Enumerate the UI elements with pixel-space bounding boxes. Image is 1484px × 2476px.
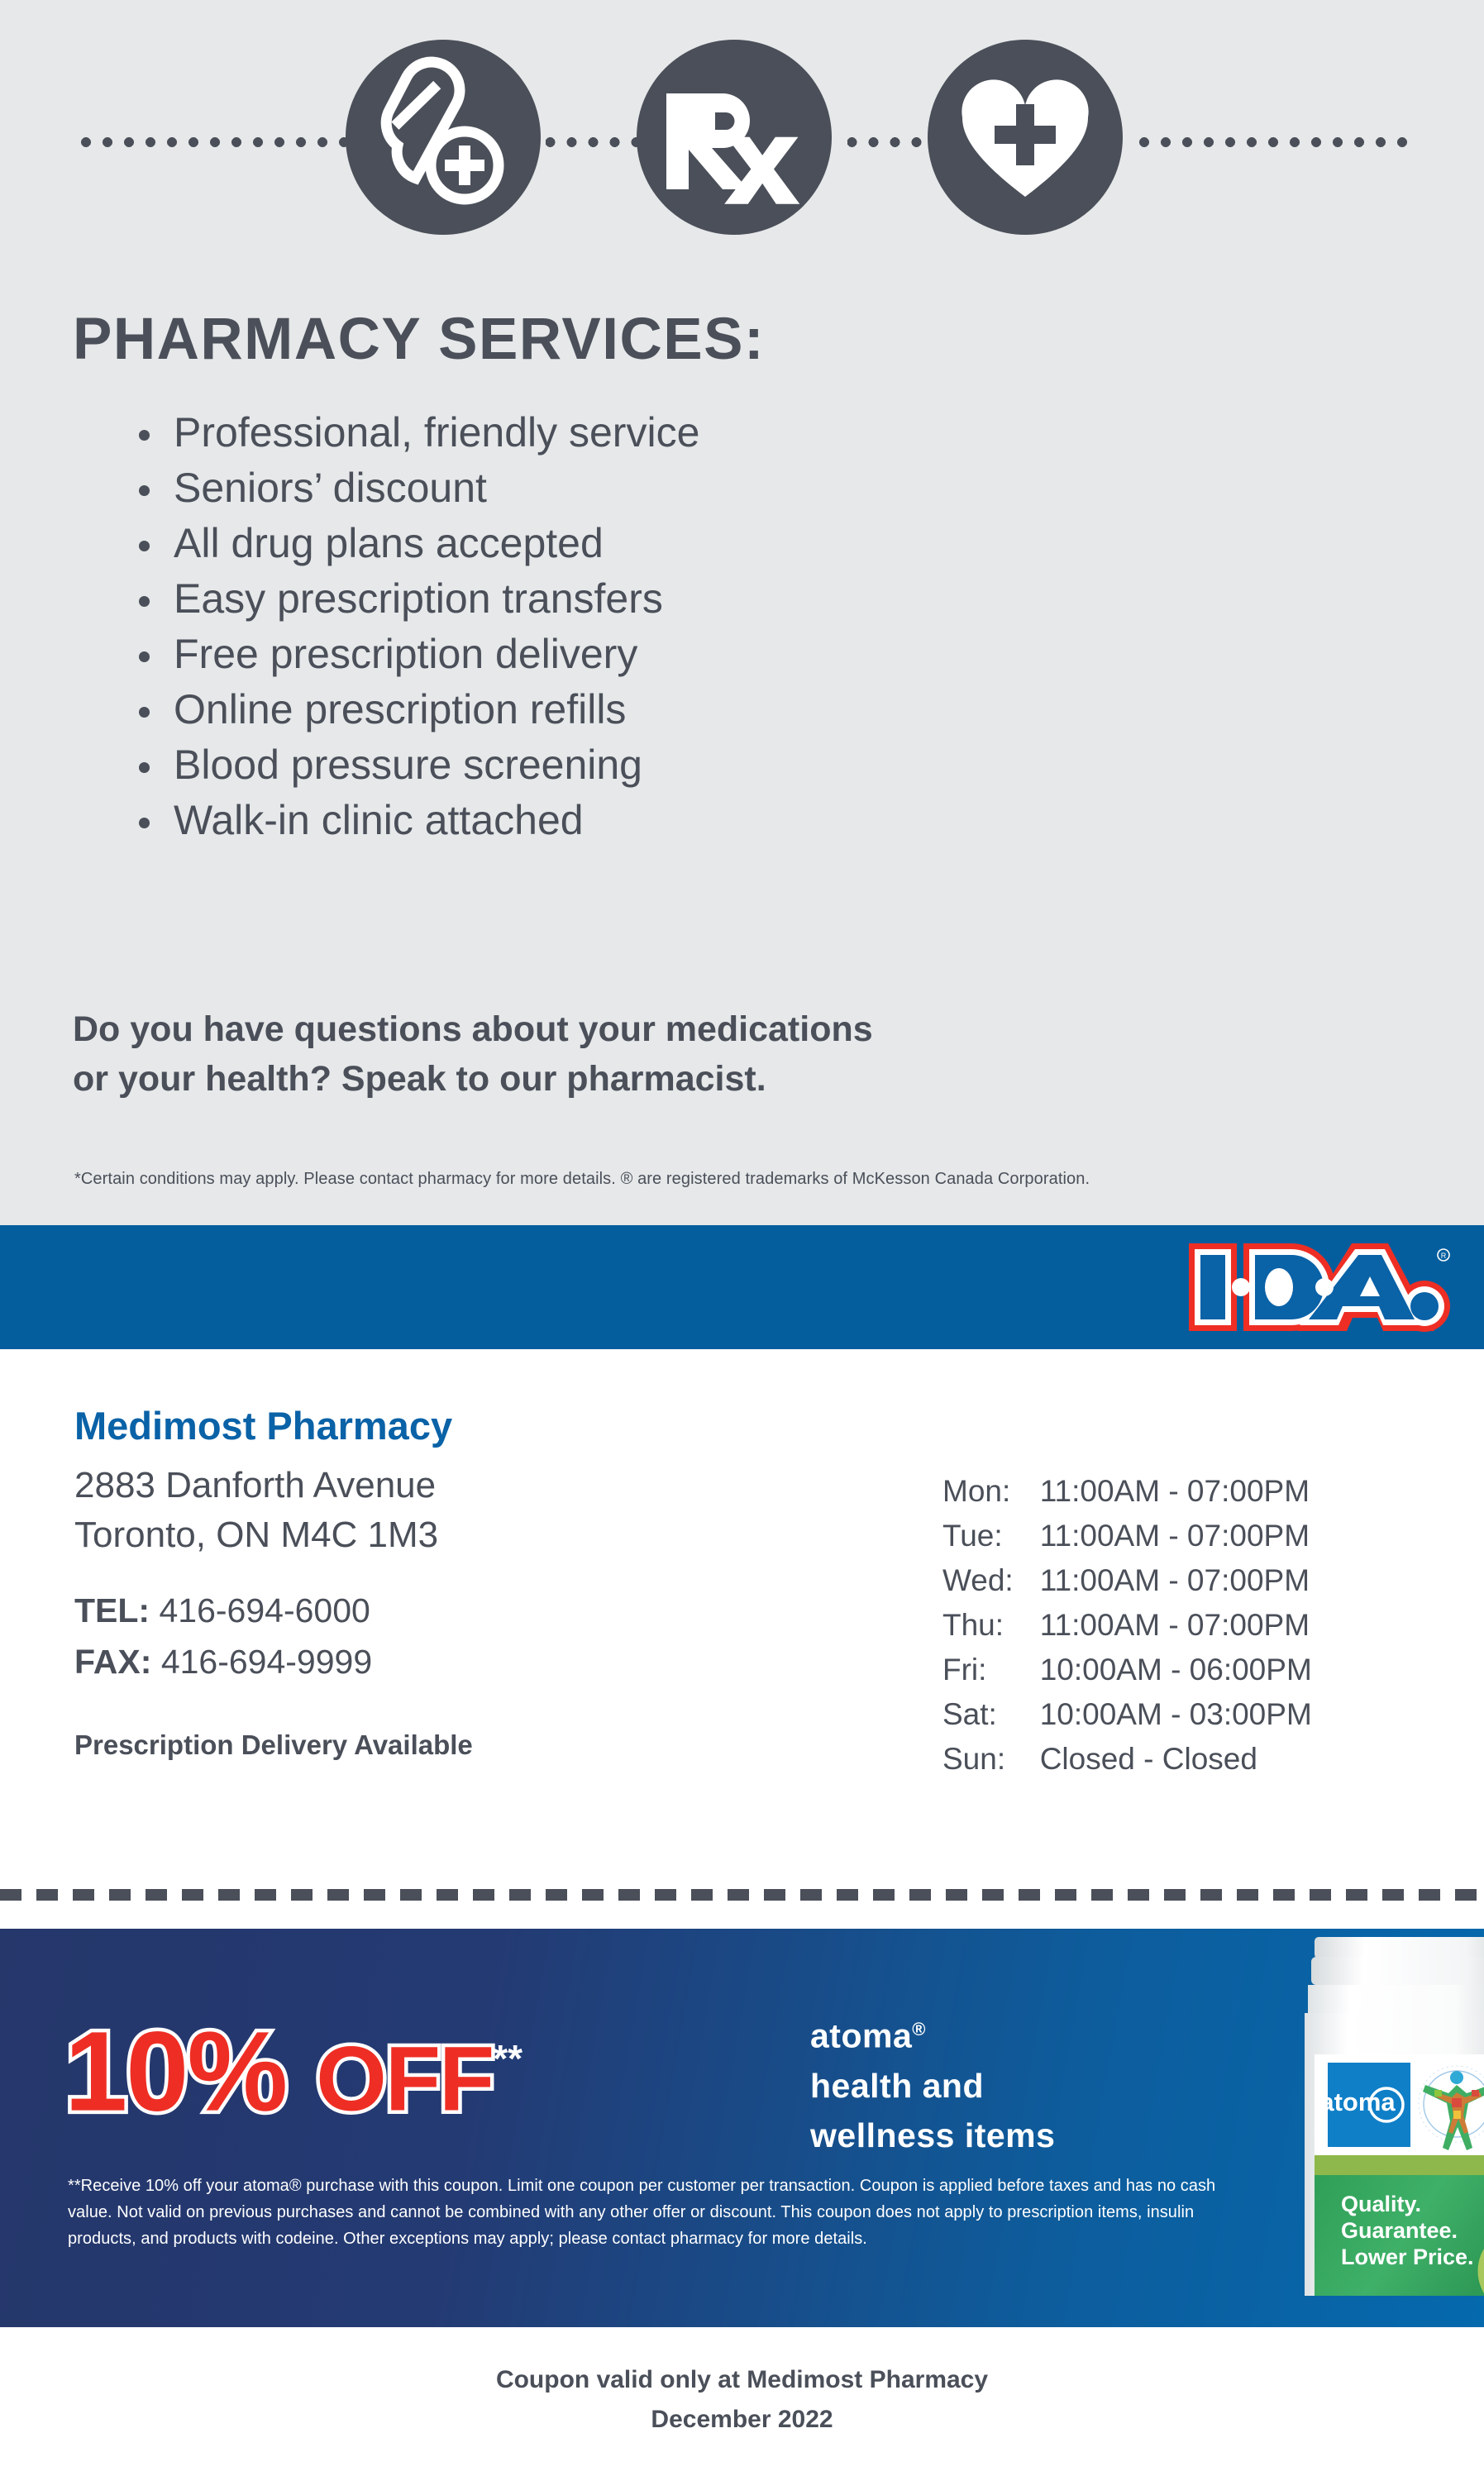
- pills-plus-icon: [346, 40, 541, 235]
- offer-footnote-marker: **: [493, 2037, 523, 2080]
- hours-day: Thu:: [942, 1603, 1040, 1648]
- offer-percent: 10%: [64, 2009, 286, 2135]
- coupon-disclaimer: **Receive 10% off your atoma® purchase w…: [68, 2173, 1225, 2252]
- telephone-label: TEL:: [74, 1591, 150, 1629]
- pharmacy-address: 2883 Danforth Avenue Toronto, ON M4C 1M3: [74, 1461, 438, 1560]
- pharmacy-info-section: Medimost Pharmacy 2883 Danforth Avenue T…: [0, 1349, 1484, 1885]
- telephone-value[interactable]: 416-694-6000: [160, 1591, 370, 1629]
- coupon-date-line: December 2022: [0, 2400, 1484, 2440]
- svg-text:R: R: [1441, 1252, 1447, 1260]
- table-row: Thu: 11:00AM - 07:00PM: [942, 1603, 1312, 1648]
- brand-band: R: [0, 1225, 1484, 1349]
- offer-text: 10% OFF**: [64, 1997, 759, 2142]
- dotted-divider-left: [79, 137, 351, 147]
- hours-day: Wed:: [942, 1558, 1040, 1603]
- bottle-label-line1: Quality.: [1341, 2192, 1421, 2216]
- atoma-wordmark: atoma: [810, 2017, 912, 2055]
- coupon-banner: 10% OFF** atoma® health and wellness ite…: [0, 1929, 1484, 2327]
- hours-time: 11:00AM - 07:00PM: [1040, 1469, 1312, 1514]
- offer-headline: 10% OFF**: [64, 1997, 759, 2142]
- pharmacist-callout-line1: Do you have questions about your medicat…: [73, 1004, 873, 1054]
- table-row: Wed: 11:00AM - 07:00PM: [942, 1558, 1312, 1603]
- atoma-brand-text: atoma® health and wellness items: [810, 2005, 1055, 2160]
- atoma-bottle-wordmark: atoma: [1319, 2087, 1396, 2116]
- telephone-row: TEL: 416-694-6000: [74, 1585, 372, 1636]
- registered-mark: ®: [912, 2019, 926, 2039]
- table-row: Tue: 11:00AM - 07:00PM: [942, 1514, 1312, 1558]
- hours-time: 11:00AM - 07:00PM: [1040, 1558, 1312, 1603]
- pharmacy-contact: TEL: 416-694-6000 FAX: 416-694-9999: [74, 1585, 372, 1687]
- hours-day: Tue:: [942, 1514, 1040, 1558]
- hours-day: Sun:: [942, 1737, 1040, 1782]
- pharmacy-flyer-page: PHARMACY SERVICES: Professional, friendl…: [0, 0, 1484, 2476]
- table-row: Fri: 10:00AM - 06:00PM: [942, 1648, 1312, 1692]
- coupon-cut-line: [0, 1889, 1484, 1901]
- pharmacist-callout-line2: or your health? Speak to our pharmacist.: [73, 1054, 873, 1104]
- list-item: Seniors’ discount: [124, 460, 699, 516]
- services-section: PHARMACY SERVICES: Professional, friendl…: [0, 0, 1484, 1225]
- legal-disclaimer-top: *Certain conditions may apply. Please co…: [74, 1170, 1090, 1189]
- pharmacist-callout: Do you have questions about your medicat…: [73, 1004, 873, 1104]
- atoma-brand-line3: wellness items: [810, 2111, 1055, 2160]
- bottle-label-line2: Guarantee.: [1341, 2218, 1458, 2243]
- hours-day: Sat:: [942, 1692, 1040, 1737]
- icon-strip: [0, 40, 1484, 238]
- services-list: Professional, friendly service Seniors’ …: [124, 405, 699, 848]
- pharmacy-name: Medimost Pharmacy: [74, 1403, 452, 1448]
- list-item: Walk-in clinic attached: [124, 793, 699, 848]
- table-row: Mon: 11:00AM - 07:00PM: [942, 1469, 1312, 1514]
- atoma-brand-line1: atoma®: [810, 2005, 1055, 2061]
- address-line-1: 2883 Danforth Avenue: [74, 1461, 438, 1510]
- hours-time: 10:00AM - 06:00PM: [1040, 1648, 1312, 1692]
- dotted-divider-mid-left: [546, 137, 641, 147]
- bottle-label-line3: Lower Price.: [1341, 2245, 1474, 2269]
- atoma-brand-line2: health and: [810, 2061, 1055, 2111]
- ida-logo: R: [1182, 1237, 1455, 1338]
- fax-label: FAX:: [74, 1643, 151, 1681]
- delivery-note: Prescription Delivery Available: [74, 1729, 473, 1761]
- hours-day: Fri:: [942, 1648, 1040, 1692]
- list-item: All drug plans accepted: [124, 516, 699, 571]
- list-item: Free prescription delivery: [124, 627, 699, 682]
- table-row: Sat: 10:00AM - 03:00PM: [942, 1692, 1312, 1737]
- address-line-2: Toronto, ON M4C 1M3: [74, 1510, 438, 1560]
- table-row: Sun: Closed - Closed: [942, 1737, 1312, 1782]
- heart-plus-icon: [928, 40, 1123, 235]
- fax-value: 416-694-9999: [161, 1643, 372, 1681]
- hours-time: 10:00AM - 03:00PM: [1040, 1692, 1312, 1737]
- atoma-product-bottle-image: atoma Quality. Guara: [1300, 1929, 1484, 2327]
- list-item: Easy prescription transfers: [124, 571, 699, 627]
- rx-icon: [637, 40, 832, 235]
- coupon-footer: Coupon valid only at Medimost Pharmacy D…: [0, 2360, 1484, 2440]
- list-item: Online prescription refills: [124, 682, 699, 737]
- hours-time: 11:00AM - 07:00PM: [1040, 1603, 1312, 1648]
- store-hours-table: Mon: 11:00AM - 07:00PM Tue: 11:00AM - 07…: [942, 1469, 1312, 1782]
- coupon-validity-line: Coupon valid only at Medimost Pharmacy: [0, 2360, 1484, 2400]
- list-item: Professional, friendly service: [124, 405, 699, 460]
- fax-row: FAX: 416-694-9999: [74, 1636, 372, 1687]
- hours-time: Closed - Closed: [1040, 1737, 1312, 1782]
- hours-time: 11:00AM - 07:00PM: [1040, 1514, 1312, 1558]
- list-item: Blood pressure screening: [124, 737, 699, 793]
- offer-word: OFF: [316, 2029, 493, 2130]
- hours-day: Mon:: [942, 1469, 1040, 1514]
- dotted-divider-right: [1137, 137, 1410, 147]
- page-title: PHARMACY SERVICES:: [73, 306, 765, 373]
